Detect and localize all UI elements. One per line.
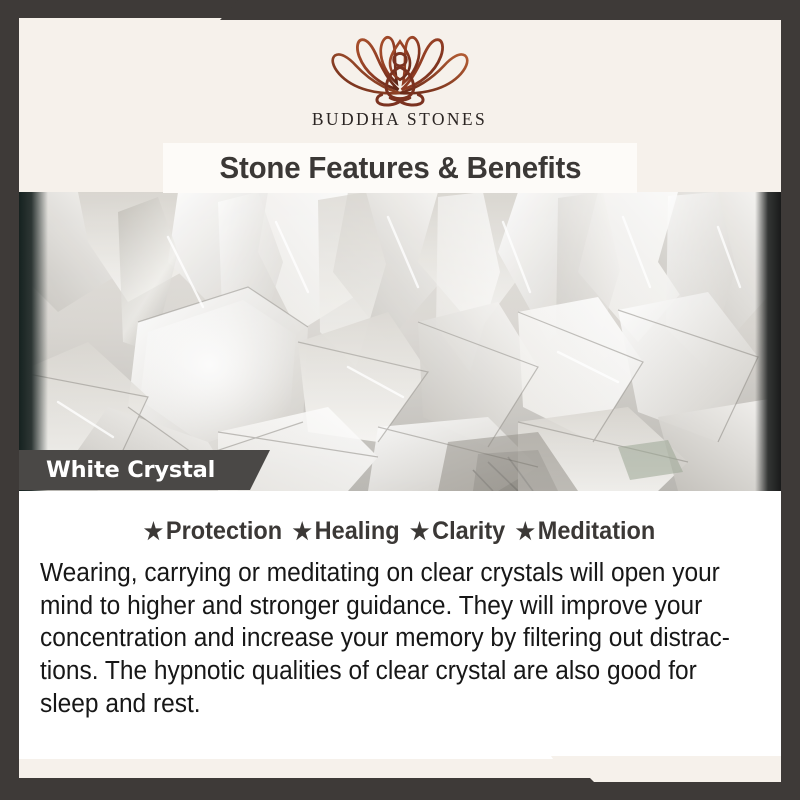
photo-right-shadow-edge — [755, 192, 781, 491]
lotus-meditation-figure-icon — [316, 28, 484, 108]
white-crystal-cluster-photo: White Crystal — [18, 192, 781, 491]
photo-left-shadow-edge — [18, 192, 48, 491]
star-icon: ★ — [410, 518, 429, 544]
star-icon: ★ — [144, 518, 163, 544]
benefits-row: ★Protection★Healing★Clarity★Meditation — [62, 517, 738, 546]
page-body: BUDDHA STONES Stone Features & Benefits — [18, 18, 781, 782]
page-title-panel: Stone Features & Benefits — [163, 143, 637, 193]
benefit-label: Healing — [315, 517, 400, 545]
frame-left-band — [0, 0, 19, 800]
benefit-item-clarity: ★Clarity — [410, 517, 505, 546]
benefit-label: Clarity — [432, 517, 505, 545]
benefit-item-meditation: ★Meditation — [516, 517, 656, 546]
benefit-item-healing: ★Healing — [292, 517, 399, 546]
brand-name: BUDDHA STONES — [312, 109, 487, 130]
star-icon: ★ — [292, 518, 311, 544]
benefit-item-protection: ★Protection — [144, 517, 282, 546]
frame-top-band — [0, 0, 800, 20]
top-left-cream-wedge — [18, 18, 258, 40]
stone-description: Wearing, carrying or meditating on clear… — [40, 557, 758, 720]
stone-name-label: White Crystal — [46, 457, 215, 483]
frame-right-band — [781, 0, 800, 800]
infographic-page: BUDDHA STONES Stone Features & Benefits — [0, 0, 800, 800]
benefit-label: Protection — [166, 517, 282, 545]
content-card: ★Protection★Healing★Clarity★Meditation W… — [18, 491, 781, 759]
benefit-label: Meditation — [538, 517, 656, 545]
page-title: Stone Features & Benefits — [219, 150, 581, 186]
stone-name-banner: White Crystal — [18, 450, 270, 490]
star-icon: ★ — [516, 518, 535, 544]
